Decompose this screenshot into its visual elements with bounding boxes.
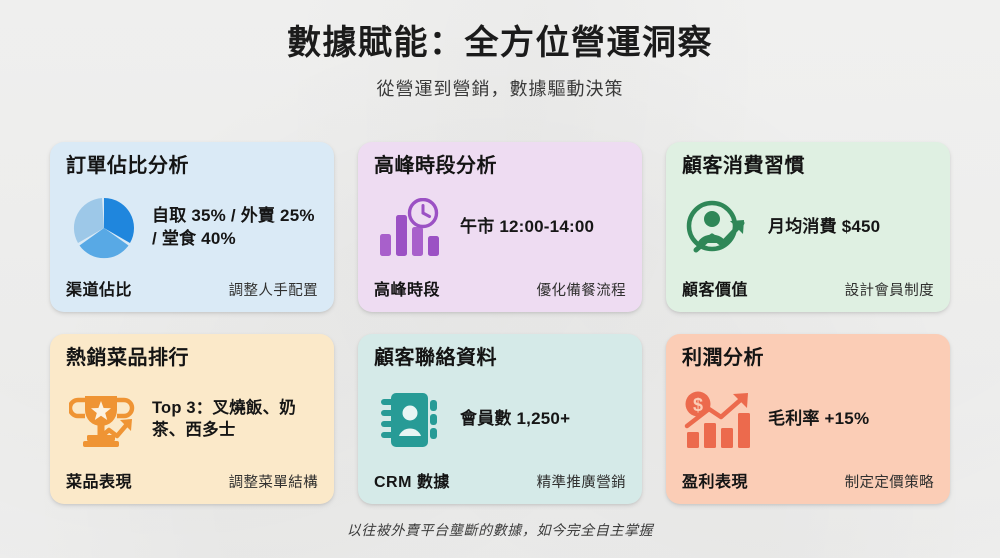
card-title: 利潤分析 <box>682 348 934 369</box>
card-footer: 渠道佔比 調整人手配置 <box>66 274 318 300</box>
card-footer-action: 調整人手配置 <box>229 279 318 300</box>
card-footer: 盈利表現 制定定價策略 <box>682 466 934 492</box>
card-title: 熱銷菜品排行 <box>66 348 318 369</box>
card-footer: 顧客價值 設計會員制度 <box>682 274 934 300</box>
card-metric: 會員數 1,250+ <box>460 408 626 430</box>
page-subtitle: 從營運到營銷，數據驅動決策 <box>0 75 1000 101</box>
pie-chart-icon <box>66 197 142 259</box>
card-footer: CRM 數據 精準推廣營銷 <box>374 466 626 492</box>
card-body: 自取 35% / 外賣 25% / 堂食 40% <box>66 177 318 274</box>
card-title: 顧客聯絡資料 <box>374 348 626 369</box>
card-metric: 午市 12:00-14:00 <box>460 216 626 238</box>
card-title: 高峰時段分析 <box>374 156 626 177</box>
card-title: 顧客消費習慣 <box>682 156 934 177</box>
card-footer-label: 盈利表現 <box>682 468 748 492</box>
card-grid: 訂單佔比分析 自取 35% / 外賣 25% / 堂食 4 <box>50 142 950 504</box>
card-metric: 毛利率 +15% <box>768 408 934 430</box>
card-metric: 自取 35% / 外賣 25% / 堂食 40% <box>152 205 318 250</box>
card-profit-analysis[interactable]: 利潤分析 $ <box>666 334 950 504</box>
card-body: 午市 12:00-14:00 <box>374 177 626 274</box>
card-footer-action: 調整菜單結構 <box>229 471 318 492</box>
customer-growth-icon <box>682 197 758 259</box>
card-footer-label: 渠道佔比 <box>66 276 132 300</box>
page-header: 數據賦能：全方位營運洞察 從營運到營銷，數據驅動決策 <box>0 0 1000 101</box>
card-footer-action: 優化備餐流程 <box>537 279 626 300</box>
card-metric: 月均消費 $450 <box>768 216 934 238</box>
page-title: 數據賦能：全方位營運洞察 <box>0 25 1000 62</box>
card-footer-label: 菜品表現 <box>66 468 132 492</box>
card-title: 訂單佔比分析 <box>66 156 318 177</box>
card-footer: 菜品表現 調整菜單結構 <box>66 466 318 492</box>
card-body: Top 3：叉燒飯、奶茶、西多士 <box>66 369 318 466</box>
infographic-page: 數據賦能：全方位營運洞察 從營運到營銷，數據驅動決策 訂單佔比分析 <box>0 0 1000 558</box>
svg-text:$: $ <box>693 395 703 415</box>
card-footer-label: CRM 數據 <box>374 468 450 492</box>
footer-note: 以往被外賣平台壟斷的數據，如今完全自主掌握 <box>0 520 1000 540</box>
card-body: $ 毛利率 +15% <box>682 369 934 466</box>
card-body: 月均消費 $450 <box>682 177 934 274</box>
card-crm-contacts[interactable]: 顧客聯絡資料 <box>358 334 642 504</box>
card-customer-habits[interactable]: 顧客消費習慣 月均消費 $450 顧客價值 設計會員制度 <box>666 142 950 312</box>
card-footer-action: 設計會員制度 <box>845 279 934 300</box>
card-footer-label: 高峰時段 <box>374 276 440 300</box>
card-footer-action: 精準推廣營銷 <box>537 471 626 492</box>
card-peak-hours[interactable]: 高峰時段分析 午市 12:00-14:00 高峰時段 <box>358 142 642 312</box>
card-body: 會員數 1,250+ <box>374 369 626 466</box>
card-top-dishes[interactable]: 熱銷菜品排行 <box>50 334 334 504</box>
card-footer-action: 制定定價策略 <box>845 471 934 492</box>
trophy-icon <box>66 389 142 451</box>
card-order-share[interactable]: 訂單佔比分析 自取 35% / 外賣 25% / 堂食 4 <box>50 142 334 312</box>
card-footer-label: 顧客價值 <box>682 276 748 300</box>
card-footer: 高峰時段 優化備餐流程 <box>374 274 626 300</box>
bar-chart-clock-icon <box>374 197 450 259</box>
profit-growth-icon: $ <box>682 389 758 451</box>
address-book-icon <box>374 389 450 451</box>
card-metric: Top 3：叉燒飯、奶茶、西多士 <box>152 398 318 442</box>
